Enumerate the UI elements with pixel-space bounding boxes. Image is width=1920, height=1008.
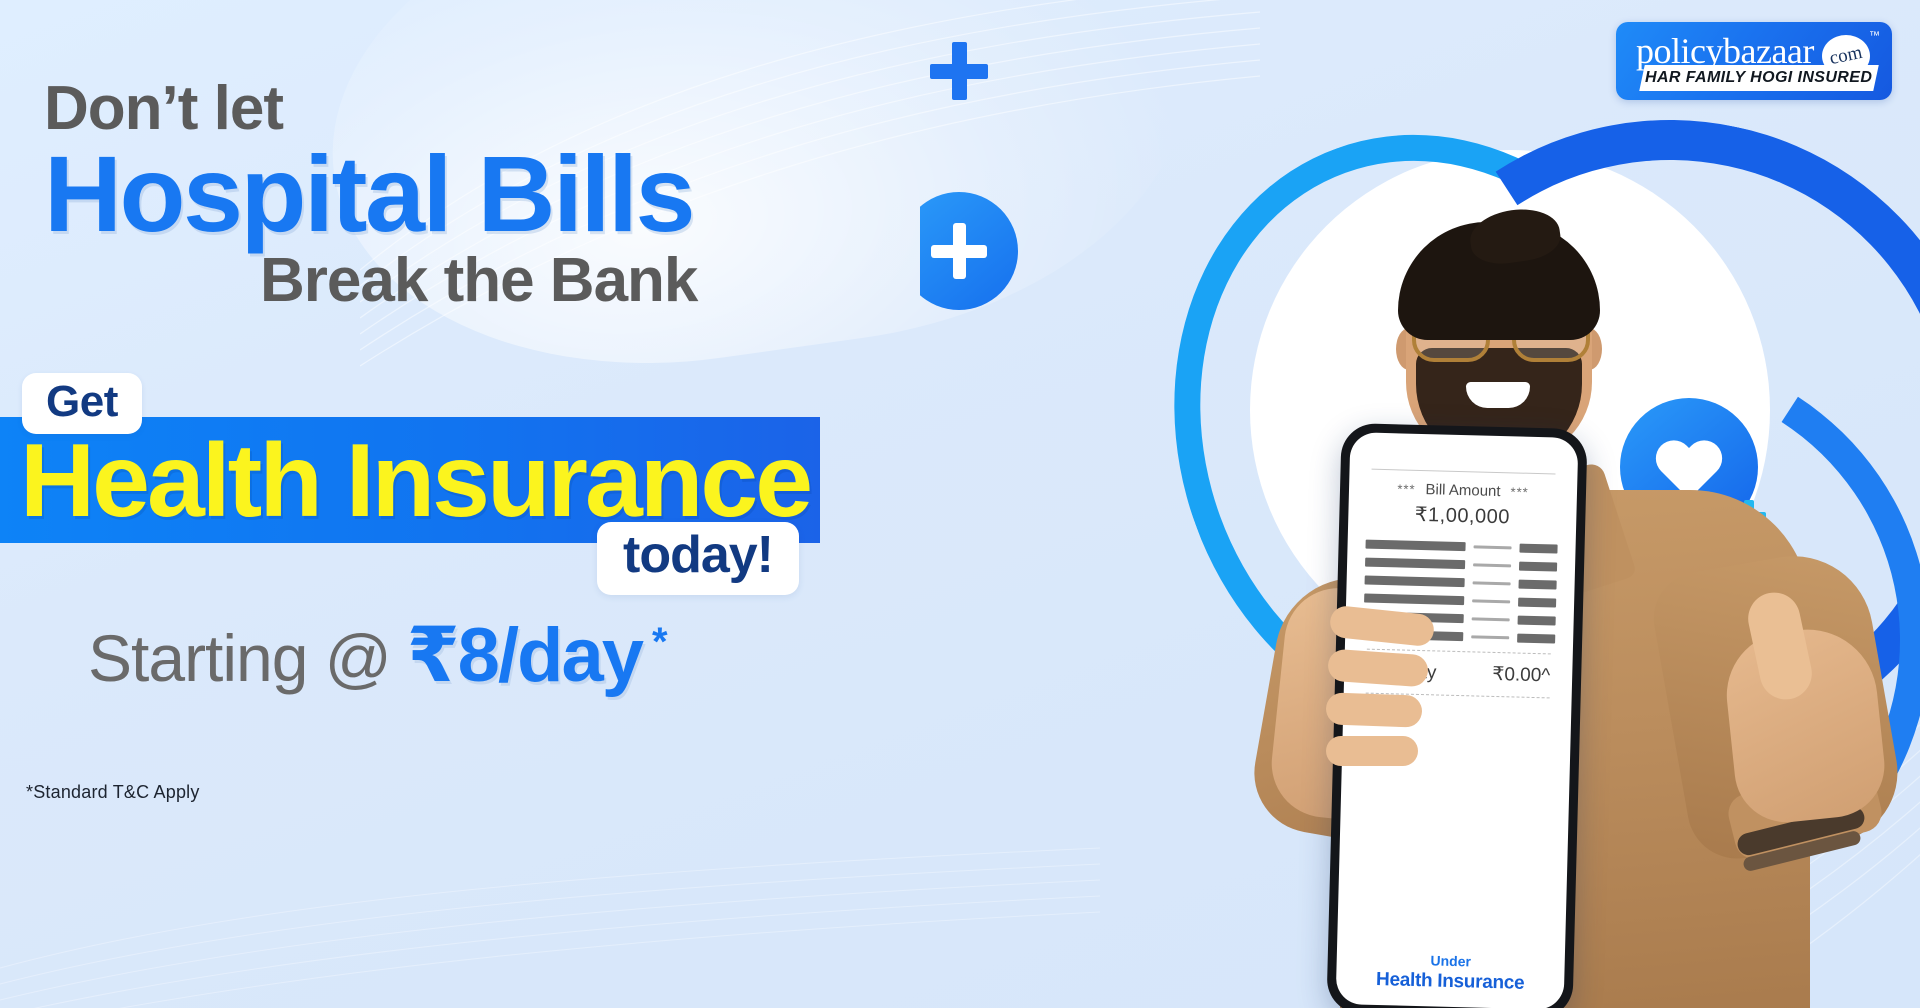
finger — [1325, 692, 1422, 727]
logo-tagline-strip: HAR FAMILY HOGI INSURED — [1639, 65, 1879, 91]
headline-line-2: Hospital Bills — [44, 140, 693, 248]
bill-row — [1365, 540, 1557, 554]
bill-row — [1364, 594, 1556, 608]
bill-title-row: *** Bill Amount *** — [1367, 480, 1559, 502]
copy-block: Don’t let Hospital Bills Break the Bank … — [0, 0, 920, 1008]
bill-title: Bill Amount — [1425, 481, 1500, 500]
policybazaar-logo[interactable]: policybazaar com ™ HAR FAMILY HOGI INSUR… — [1616, 22, 1892, 100]
person-photo: *** Bill Amount *** ₹1,00,000 — [1170, 160, 1920, 1008]
bill-footer: Under Health Insurance — [1336, 950, 1565, 996]
bill-row — [1365, 558, 1557, 572]
price-line: Starting @ ₹8/day * — [88, 610, 674, 699]
plus-circle-icon — [920, 192, 1018, 310]
you-pay-value: ₹0.00^ — [1492, 663, 1551, 688]
person-smile — [1466, 382, 1530, 408]
ad-banner: Don’t let Hospital Bills Break the Bank … — [0, 0, 1920, 1008]
finger — [1327, 649, 1429, 688]
hero-artwork: *** Bill Amount *** ₹1,00,000 — [920, 0, 1920, 1008]
disclaimer-text: *Standard T&C Apply — [26, 782, 200, 803]
finger — [1326, 736, 1418, 766]
logo-tagline-text: HAR FAMILY HOGI INSURED — [1645, 69, 1872, 87]
today-badge: today! — [597, 522, 799, 595]
bill-amount-value: ₹1,00,000 — [1366, 501, 1559, 531]
price-prefix: Starting @ — [88, 620, 391, 696]
bill-footer-product: Health Insurance — [1336, 968, 1564, 996]
headline-line-1: Don’t let — [44, 78, 283, 140]
price-amount: ₹8/day — [407, 610, 642, 699]
bill-stars-left: *** — [1397, 481, 1416, 496]
plus-icon — [930, 42, 988, 100]
bill-divider — [1372, 469, 1556, 475]
price-asterisk: * — [652, 620, 668, 665]
bill-row — [1365, 576, 1557, 590]
logo-trademark-symbol: ™ — [1869, 30, 1880, 42]
headline-line-3: Break the Bank — [260, 250, 697, 312]
bill-stars-right: *** — [1510, 484, 1529, 499]
get-badge: Get — [22, 373, 142, 434]
